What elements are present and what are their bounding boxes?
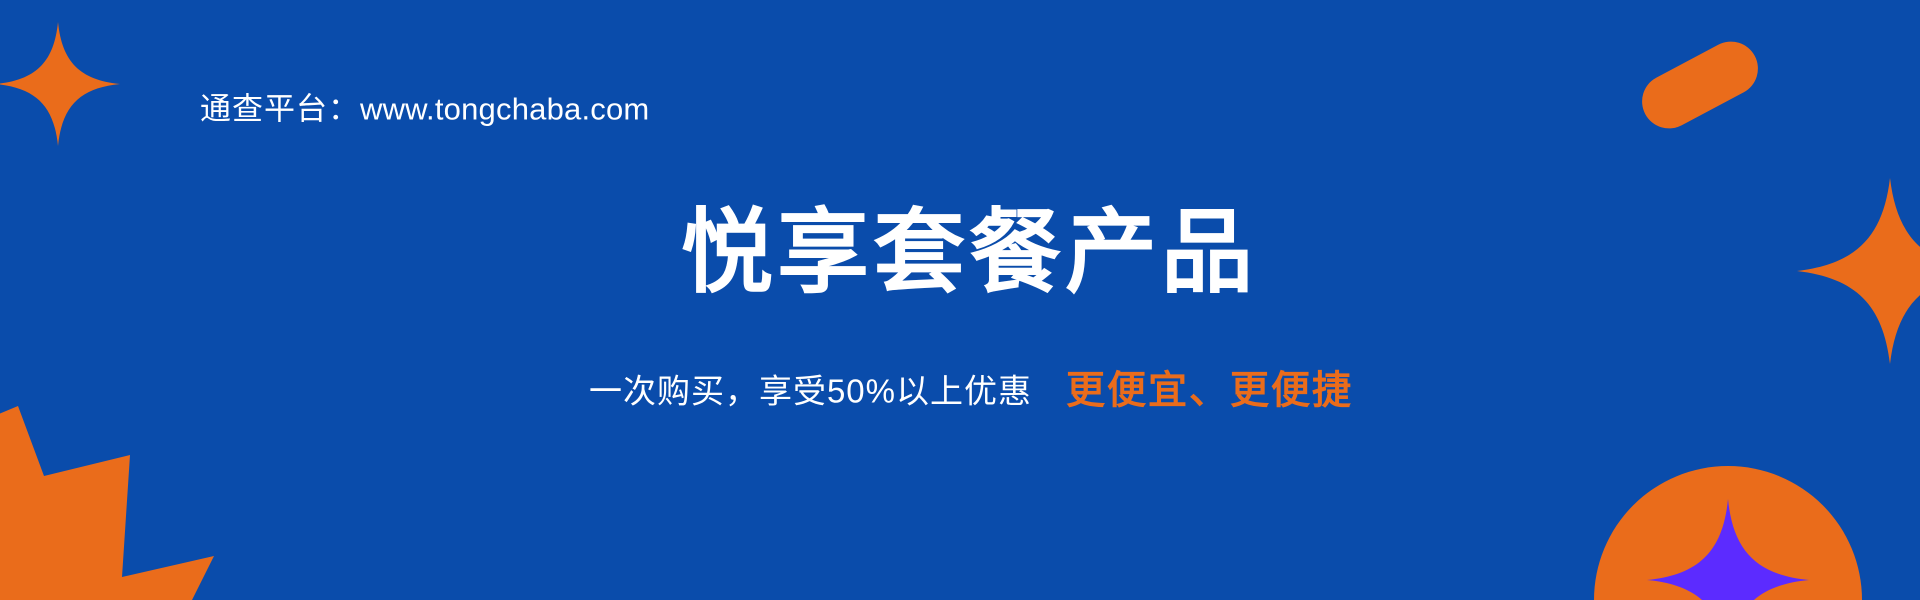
site-label: 通查平台： [200, 92, 360, 127]
subheadline: 一次购买，享受50%以上优惠更便宜、更便捷 [0, 372, 1920, 411]
subheadline-white-text: 一次购买，享受50%以上优惠 [589, 373, 1032, 410]
subheadline-orange-text: 更便宜、更便捷 [1066, 370, 1353, 413]
site-line: 通查平台：www.tongchaba.com [200, 84, 649, 129]
page-title: 悦享套餐产品 [0, 207, 1920, 299]
site-url: www.tongchaba.com [360, 92, 649, 127]
banner-content: 通查平台：www.tongchaba.com 悦享套餐产品 一次购买，享受50%… [0, 0, 1920, 600]
promo-banner: 通查平台：www.tongchaba.com 悦享套餐产品 一次购买，享受50%… [0, 0, 1920, 600]
